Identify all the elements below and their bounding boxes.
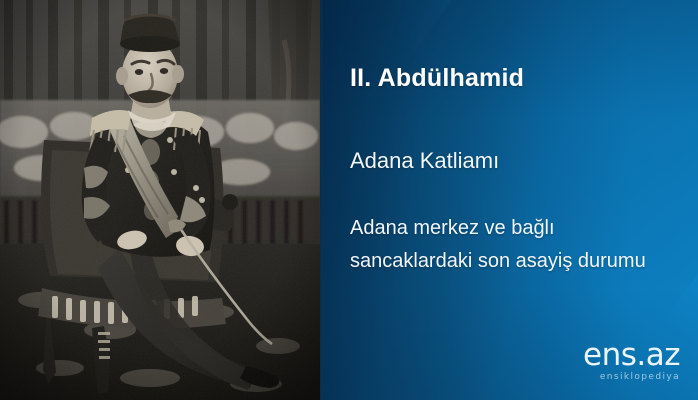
brand-logo[interactable]: ens.az ensiklopediya xyxy=(583,340,680,382)
info-panel: II. Abdülhamid Adana Katliamı Adana merk… xyxy=(320,0,698,400)
portrait-photo xyxy=(0,0,320,400)
brand-tagline: ensiklopediya xyxy=(583,373,680,382)
slide-card: II. Abdülhamid Adana Katliamı Adana merk… xyxy=(0,0,698,400)
page-title: II. Abdülhamid xyxy=(350,64,524,93)
page-subtitle: Adana Katliamı xyxy=(350,148,499,174)
historical-portrait-photo xyxy=(0,0,320,400)
brand-wordmark: ens.az xyxy=(583,340,680,371)
panel-left-edge xyxy=(320,0,323,400)
page-body-text: Adana merkez ve bağlı sancaklardaki son … xyxy=(350,212,662,278)
